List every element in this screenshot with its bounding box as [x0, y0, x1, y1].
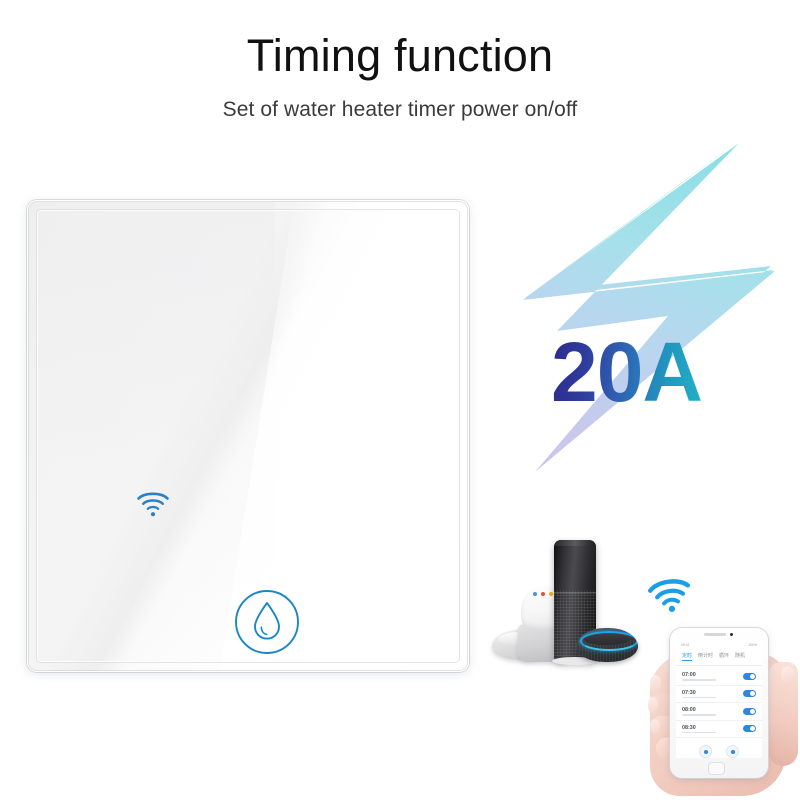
timer-time: 07:30 — [682, 690, 716, 696]
phone-camera — [730, 633, 733, 636]
app-action-bar[interactable] — [676, 738, 762, 758]
echo-dot-light-ring — [580, 631, 638, 651]
page-title: Timing function — [0, 30, 800, 82]
timer-time: 08:30 — [682, 725, 716, 731]
phone-home-button[interactable] — [708, 762, 725, 775]
timer-time: 07:00 — [682, 672, 716, 678]
smartphone[interactable]: 09:41 100% 定时 倒计时 循环 随机 07:00 — [670, 628, 768, 778]
wifi-touch-wall-switch[interactable] — [27, 200, 469, 672]
timer-time: 08:00 — [682, 707, 716, 713]
timer-list: 07:00 07:30 08:00 — [676, 666, 762, 738]
amazon-echo-dot — [576, 628, 638, 662]
status-time: 09:41 — [681, 643, 690, 647]
list-item[interactable]: 07:30 — [676, 686, 762, 704]
amperage-value: 20A — [551, 330, 702, 414]
echo-light-ring — [554, 540, 596, 546]
wifi-icon — [646, 573, 695, 617]
timer-meta — [682, 714, 716, 716]
add-button[interactable] — [726, 745, 739, 758]
timer-meta — [682, 679, 716, 681]
fingernail — [650, 675, 661, 690]
thumbnail — [781, 666, 794, 683]
page-subtitle: Set of water heater timer power on/off — [0, 98, 800, 122]
hand-holding-phone: 09:41 100% 定时 倒计时 循环 随机 07:00 — [648, 628, 798, 800]
list-item[interactable]: 08:00 — [676, 703, 762, 721]
amperage-badge: 20A — [505, 140, 795, 490]
timer-toggle[interactable] — [743, 725, 756, 732]
timer-meta — [682, 697, 716, 699]
app-tab-bar[interactable]: 定时 倒计时 循环 随机 — [676, 649, 762, 666]
phone-screen[interactable]: 09:41 100% 定时 倒计时 循环 随机 07:00 — [676, 640, 762, 758]
phone-earpiece — [704, 633, 726, 636]
tab-random[interactable]: 随机 — [735, 652, 745, 661]
list-item[interactable]: 08:30 — [676, 721, 762, 739]
fingernail — [650, 719, 660, 733]
lightning-bolt-icon — [505, 140, 795, 490]
status-bar: 09:41 100% — [676, 640, 762, 649]
edit-button[interactable] — [699, 745, 712, 758]
water-drop-touch-button[interactable] — [234, 589, 300, 655]
tab-loop[interactable]: 循环 — [719, 652, 729, 661]
timer-toggle[interactable] — [743, 673, 756, 680]
fingernail — [648, 697, 658, 712]
timer-meta — [682, 732, 716, 734]
smart-speaker-group — [492, 522, 672, 662]
tab-schedule[interactable]: 定时 — [682, 652, 692, 661]
header: Timing function Set of water heater time… — [0, 0, 800, 122]
status-battery: 100% — [748, 643, 757, 647]
timer-toggle[interactable] — [743, 708, 756, 715]
tab-countdown[interactable]: 倒计时 — [698, 652, 713, 661]
timer-toggle[interactable] — [743, 690, 756, 697]
wifi-icon — [135, 488, 171, 518]
list-item[interactable]: 07:00 — [676, 668, 762, 686]
